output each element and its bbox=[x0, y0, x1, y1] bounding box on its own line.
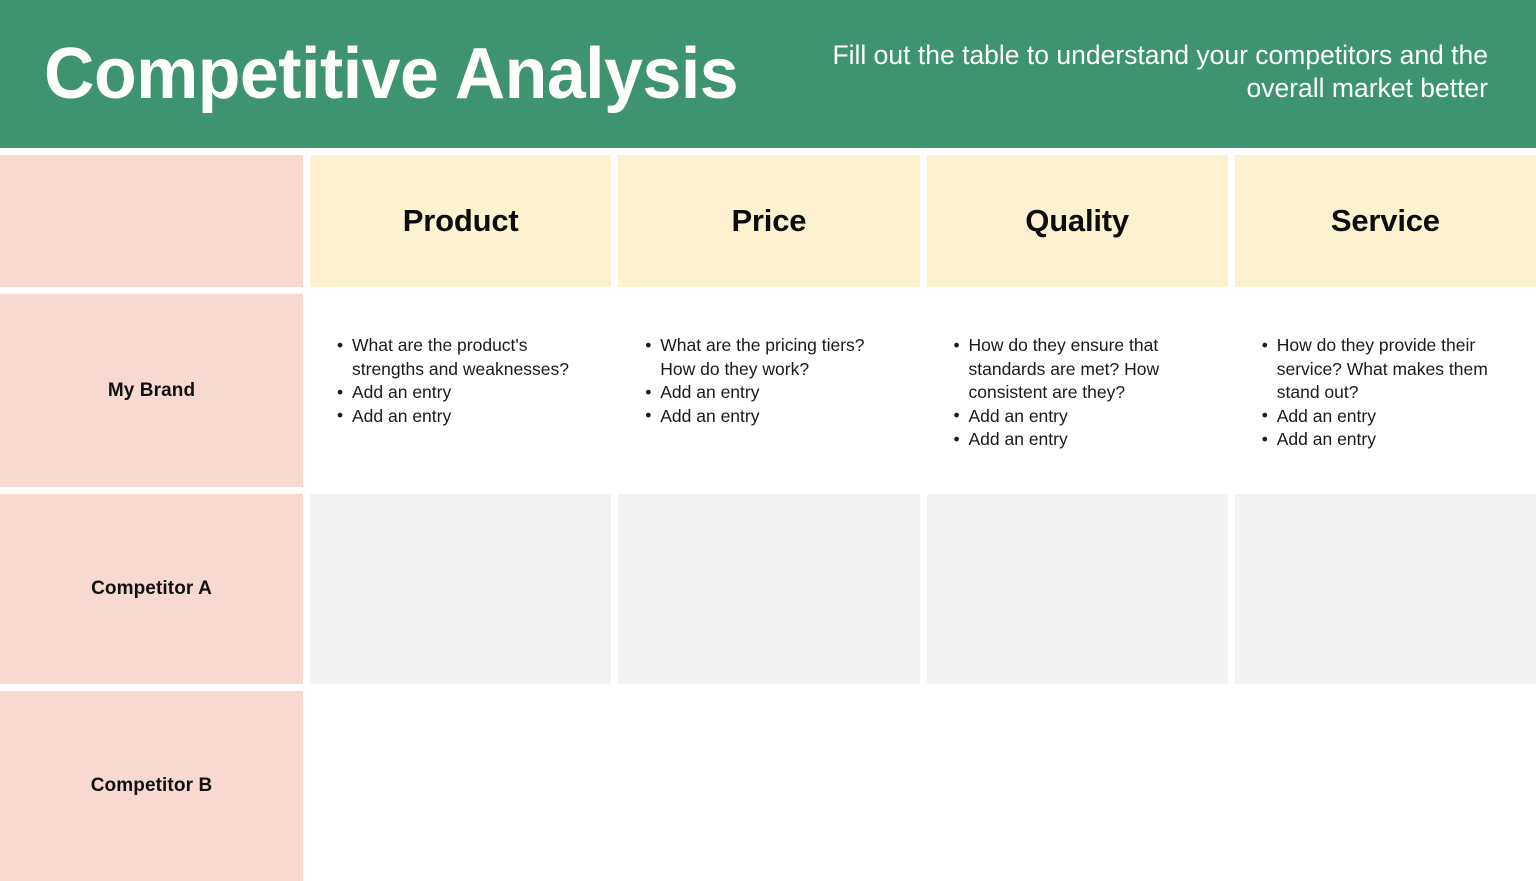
column-header-label: Product bbox=[403, 203, 519, 239]
entry-list: What are the pricing tiers? How do they … bbox=[644, 334, 893, 428]
row-label-competitor-b: Competitor B bbox=[0, 691, 303, 881]
cell-my-brand-quality[interactable]: How do they ensure that standards are me… bbox=[927, 294, 1228, 487]
table-row: Competitor A bbox=[0, 494, 1536, 684]
row-cells-competitor-a bbox=[310, 494, 1536, 684]
entry-list: How do they ensure that standards are me… bbox=[953, 334, 1202, 452]
list-item[interactable]: What are the product's strengths and wea… bbox=[336, 334, 585, 381]
cell-competitor-b-quality[interactable] bbox=[927, 691, 1228, 881]
cell-my-brand-price[interactable]: What are the pricing tiers? How do they … bbox=[618, 294, 919, 487]
column-header-label: Quality bbox=[1025, 203, 1129, 239]
cell-competitor-a-product[interactable] bbox=[310, 494, 611, 684]
row-label-competitor-a: Competitor A bbox=[0, 494, 303, 684]
column-header-label: Price bbox=[731, 203, 806, 239]
cell-competitor-a-price[interactable] bbox=[618, 494, 919, 684]
page-title: Competitive Analysis bbox=[44, 35, 738, 113]
cell-competitor-a-service[interactable] bbox=[1235, 494, 1536, 684]
row-cells-competitor-b bbox=[310, 691, 1536, 881]
list-item[interactable]: How do they provide their service? What … bbox=[1261, 334, 1510, 405]
cell-my-brand-service[interactable]: How do they provide their service? What … bbox=[1235, 294, 1536, 487]
table-row: Competitor B bbox=[0, 691, 1536, 881]
list-item[interactable]: Add an entry bbox=[336, 381, 585, 405]
list-item[interactable]: What are the pricing tiers? How do they … bbox=[644, 334, 893, 381]
list-item[interactable]: Add an entry bbox=[336, 405, 585, 429]
list-item[interactable]: Add an entry bbox=[1261, 405, 1510, 429]
cell-competitor-b-product[interactable] bbox=[310, 691, 611, 881]
page-subtitle: Fill out the table to understand your co… bbox=[760, 39, 1488, 109]
row-cells-my-brand: What are the product's strengths and wea… bbox=[310, 294, 1536, 487]
row-label-my-brand: My Brand bbox=[0, 294, 303, 487]
column-header-service: Service bbox=[1235, 155, 1536, 287]
competitive-analysis-worksheet: Competitive Analysis Fill out the table … bbox=[0, 0, 1536, 870]
list-item[interactable]: How do they ensure that standards are me… bbox=[953, 334, 1202, 405]
cell-competitor-b-price[interactable] bbox=[618, 691, 919, 881]
column-header-product: Product bbox=[310, 155, 611, 287]
cell-competitor-b-service[interactable] bbox=[1235, 691, 1536, 881]
competitive-analysis-table: Product Price Quality Service My Brand bbox=[0, 155, 1536, 881]
column-headers: Product Price Quality Service bbox=[310, 155, 1536, 287]
entry-list: What are the product's strengths and wea… bbox=[336, 334, 585, 428]
list-item[interactable]: Add an entry bbox=[953, 428, 1202, 452]
cell-my-brand-product[interactable]: What are the product's strengths and wea… bbox=[310, 294, 611, 487]
entry-list: How do they provide their service? What … bbox=[1261, 334, 1510, 452]
list-item[interactable]: Add an entry bbox=[644, 405, 893, 429]
list-item[interactable]: Add an entry bbox=[1261, 428, 1510, 452]
table-row: My Brand What are the product's strength… bbox=[0, 294, 1536, 487]
list-item[interactable]: Add an entry bbox=[953, 405, 1202, 429]
page-header: Competitive Analysis Fill out the table … bbox=[0, 0, 1536, 148]
list-item[interactable]: Add an entry bbox=[644, 381, 893, 405]
table-corner-cell bbox=[0, 155, 303, 287]
column-header-quality: Quality bbox=[927, 155, 1228, 287]
column-header-label: Service bbox=[1331, 203, 1440, 239]
cell-competitor-a-quality[interactable] bbox=[927, 494, 1228, 684]
column-header-price: Price bbox=[618, 155, 919, 287]
table-header-row: Product Price Quality Service bbox=[0, 155, 1536, 287]
